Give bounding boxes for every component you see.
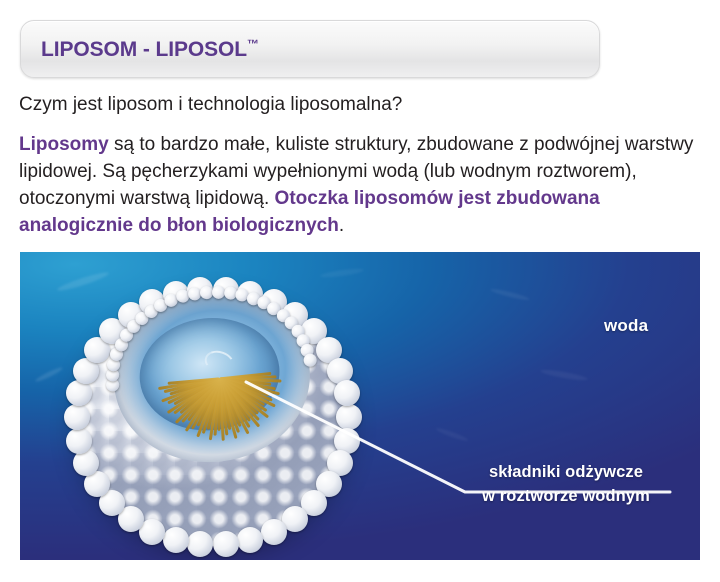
text-block: Czym jest liposom i technologia liposoma… bbox=[19, 92, 703, 239]
lead-question: Czym jest liposom i technologia liposoma… bbox=[19, 92, 703, 118]
body-paragraph: Liposomy są to bardzo małe, kuliste stru… bbox=[19, 131, 703, 239]
water-streak-icon bbox=[490, 287, 530, 302]
phospholipid-head-icon bbox=[237, 527, 263, 553]
header-bar: LIPOSOM - LIPOSOL™ bbox=[20, 20, 600, 78]
label-nutrients-line1: składniki odżywcze bbox=[440, 460, 692, 484]
phospholipid-head-icon bbox=[66, 380, 92, 406]
page-title: LIPOSOM - LIPOSOL™ bbox=[41, 37, 259, 62]
emphasis-liposomy: Liposomy bbox=[19, 134, 109, 155]
phospholipid-head-icon bbox=[163, 527, 189, 553]
phospholipid-head-icon bbox=[261, 519, 287, 545]
phospholipid-head-icon bbox=[334, 380, 360, 406]
water-streak-icon bbox=[435, 426, 469, 442]
label-nutrients-line2: w roztworze wodnym bbox=[440, 484, 692, 508]
label-water: woda bbox=[604, 316, 648, 336]
water-streak-icon bbox=[34, 366, 63, 384]
phospholipid-head-icon bbox=[303, 353, 317, 367]
label-nutrients: składniki odżywcze w roztworze wodnym bbox=[440, 460, 692, 508]
liposome-diagram bbox=[68, 272, 360, 554]
phospholipid-head-icon bbox=[66, 428, 92, 454]
phospholipid-head-icon bbox=[64, 404, 90, 430]
paragraph-text-part-2: . bbox=[339, 215, 344, 236]
trademark-symbol: ™ bbox=[247, 37, 259, 51]
phospholipid-head-icon bbox=[187, 531, 213, 557]
phospholipid-head-icon bbox=[213, 531, 239, 557]
phospholipid-head-icon bbox=[336, 404, 362, 430]
page-title-text: LIPOSOM - LIPOSOL bbox=[41, 38, 247, 61]
water-streak-icon bbox=[540, 368, 588, 382]
illustration-panel: woda składniki odżywcze w roztworze wodn… bbox=[20, 252, 700, 560]
